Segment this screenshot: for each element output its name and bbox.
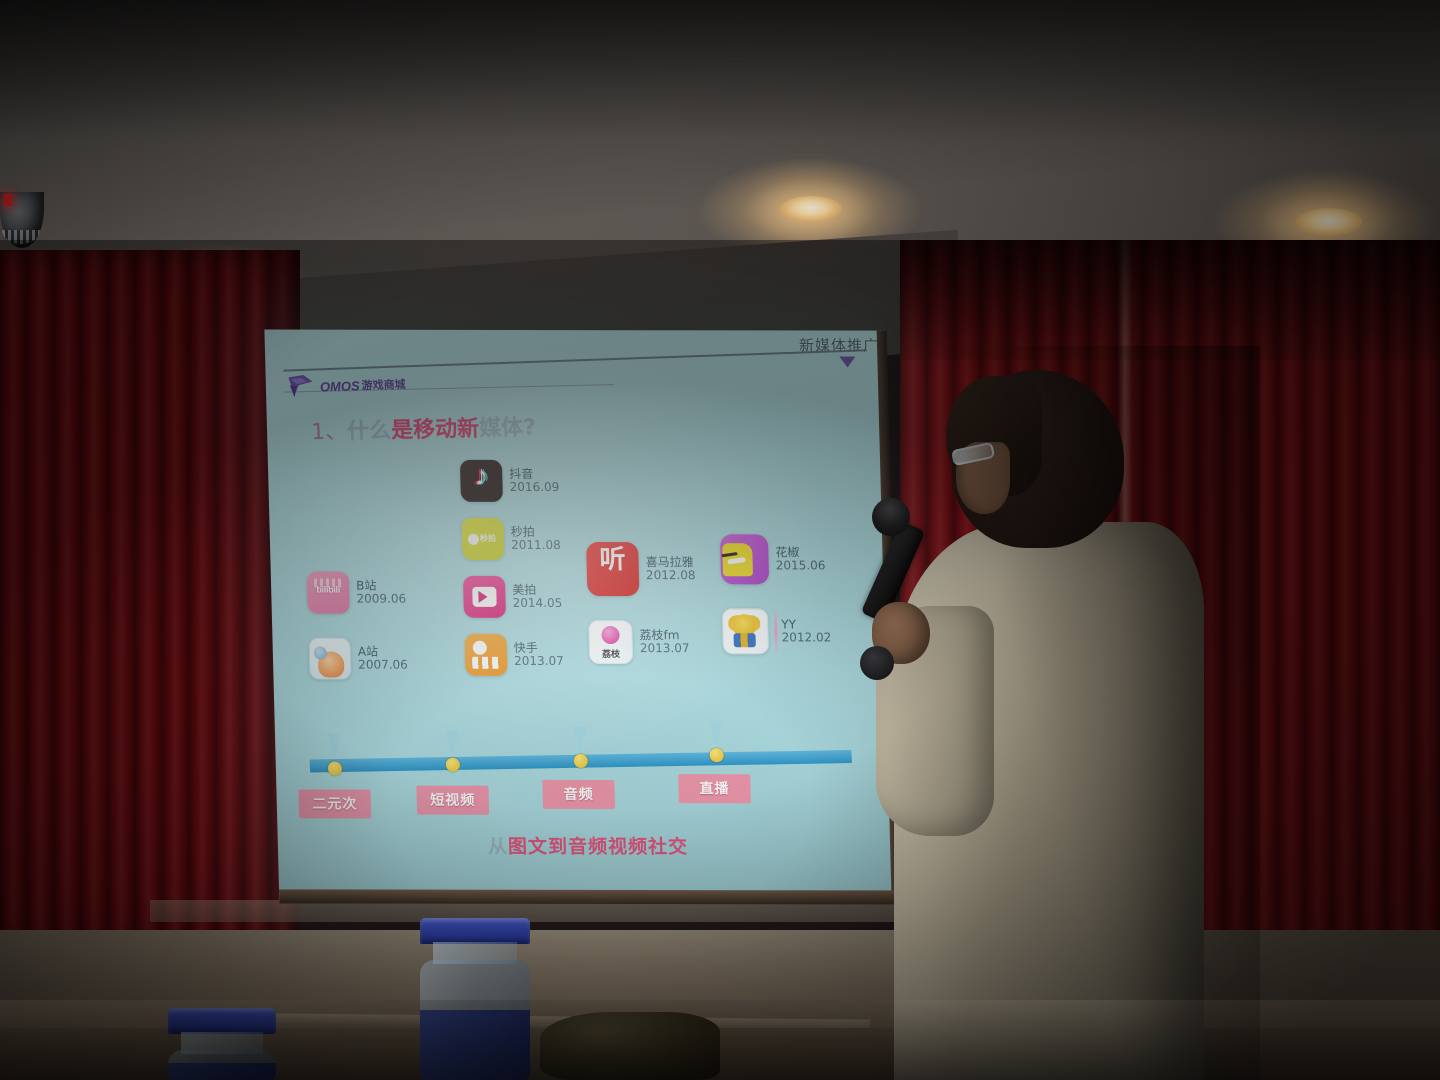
timeline-marker — [710, 748, 724, 762]
presenter — [860, 346, 1260, 1080]
bottle-cap — [420, 918, 530, 944]
app-date: 2012.08 — [646, 569, 696, 583]
douyin-icon — [460, 460, 503, 502]
ximalaya-icon — [586, 542, 639, 596]
timeline-chip-yinpin: 音频 — [542, 780, 615, 809]
bottle-body — [420, 960, 530, 1080]
app-item: 秒拍 2011.08 — [461, 518, 561, 560]
vertical-divider — [774, 608, 778, 654]
app-item: 荔枝fm 2013.07 — [588, 620, 698, 664]
slide-title-number: 1、 — [311, 419, 348, 445]
brand-logo: OMOS 游戏商城 — [287, 370, 406, 401]
ceiling-light — [780, 196, 842, 222]
caption-highlight: 图文到音频视频社交 — [508, 836, 689, 858]
bottle-cap — [168, 1008, 276, 1034]
brand-name: OMOS — [319, 378, 360, 394]
stage-curtain-left — [0, 250, 300, 950]
timeline-marker — [574, 754, 588, 768]
slide-title-part2: 媒体 — [479, 416, 524, 442]
app-item: 美拍 2014.05 — [463, 576, 563, 618]
timeline-marker — [328, 761, 342, 775]
timeline-stem — [445, 730, 460, 756]
header-divider — [283, 349, 866, 371]
omos-logo-mark-icon — [287, 373, 319, 402]
app-item: 喜马拉雅 2012.08 — [586, 542, 696, 596]
app-item: 抖音 2016.09 — [460, 460, 560, 502]
timeline-stem — [573, 726, 588, 752]
app-item: B站 2009.06 — [307, 572, 407, 614]
projection-screen: 新媒体推广 OMOS 游戏商城 1、什么是移动新媒体? — [264, 330, 899, 903]
bottle-label — [168, 1063, 276, 1080]
timeline-marker — [446, 758, 460, 772]
slide-caption: 从图文到音频视频社交 — [278, 831, 899, 859]
app-group-erciyuan: B站 2009.06 A站 2007.06 — [307, 572, 409, 689]
timeline-chip-duanshipin: 短视频 — [416, 786, 489, 815]
app-item: 快手 2013.07 — [464, 634, 564, 676]
bottle-body — [168, 1050, 276, 1080]
presentation-room-photo: 新媒体推广 OMOS 游戏商城 1、什么是移动新媒体? — [0, 0, 1440, 1080]
miaopai-icon — [461, 518, 504, 560]
timeline-chip-erciyuan: 二元次 — [298, 789, 371, 818]
kuaishou-icon — [464, 634, 507, 676]
acfun-icon — [308, 638, 351, 680]
app-date: 2013.07 — [514, 655, 564, 669]
lizhi-icon — [588, 620, 633, 664]
microphone-base — [860, 646, 894, 680]
app-group-yinpin: 喜马拉雅 2012.08 荔枝fm 2013.07 — [586, 542, 698, 673]
app-date: 2009.06 — [356, 593, 406, 607]
slide-title: 1、什么是移动新媒体? — [310, 409, 536, 446]
huajiao-icon — [720, 534, 769, 584]
caption-prefix: 从 — [488, 836, 509, 858]
screen-frame-bottom — [279, 889, 902, 904]
app-date: 2015.06 — [776, 559, 826, 573]
timeline-stem — [327, 734, 342, 760]
bottle-label — [420, 1010, 530, 1080]
dark-bag — [540, 1012, 720, 1080]
timeline-chip-zhibo: 直播 — [678, 774, 751, 803]
slide-title-part1: 什么 — [347, 418, 392, 444]
app-item: 花椒 2015.06 — [720, 534, 830, 584]
app-date: 2012.02 — [781, 631, 831, 645]
timeline-stem — [709, 720, 724, 746]
slide-title-mark: ? — [523, 415, 537, 440]
app-date: 2014.05 — [512, 597, 562, 611]
yy-icon — [722, 608, 769, 654]
ceiling-light — [1296, 208, 1362, 236]
water-bottle — [420, 918, 530, 1080]
slide-surface: 新媒体推广 OMOS 游戏商城 1、什么是移动新媒体? — [264, 330, 899, 903]
header-triangle-icon — [839, 357, 855, 368]
meipai-icon — [463, 576, 506, 618]
app-group-zhibo: 花椒 2015.06 YY 2012.02 — [720, 534, 832, 663]
brand-name-cn: 游戏商城 — [361, 376, 406, 393]
bilibili-icon — [307, 572, 350, 614]
app-item: YY 2012.02 — [722, 608, 832, 654]
curtain-shadow — [900, 240, 1440, 360]
app-group-duanshipin: 抖音 2016.09 秒拍 2011.08 美拍 2014.05 — [460, 460, 565, 685]
ceiling-shadow — [0, 0, 1440, 140]
app-item: A站 2007.06 — [308, 638, 408, 680]
water-bottle — [168, 1008, 276, 1080]
slide-title-highlight: 是移动新 — [391, 417, 480, 444]
app-date: 2011.08 — [511, 539, 561, 553]
app-date: 2007.06 — [358, 659, 408, 673]
app-date: 2013.07 — [640, 642, 690, 656]
app-date: 2016.09 — [509, 481, 559, 495]
